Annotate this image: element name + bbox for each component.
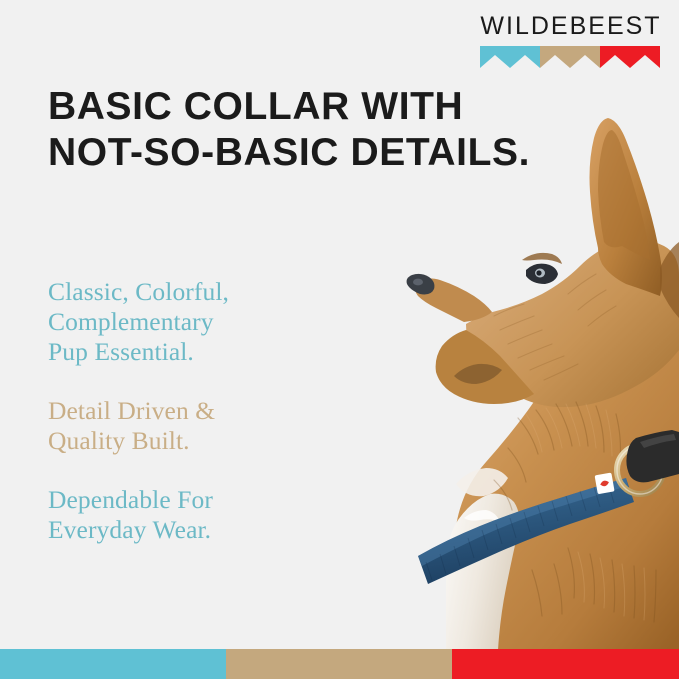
dog-brow (522, 253, 562, 264)
bottom-bar-red-segment (452, 649, 679, 679)
bottom-color-bar (0, 649, 679, 679)
brand-wordmark: WILDEBEEST (475, 14, 667, 39)
dog-photo (268, 118, 679, 650)
bottom-bar-tan-segment (226, 649, 452, 679)
brand-logo: WILDEBEEST (475, 14, 665, 68)
logo-chevron-bar-icon (480, 46, 660, 68)
collar-tag (595, 473, 615, 495)
promo-banner: WILDEBEEST BASIC COLLAR WITH NOT-SO-BASI… (0, 0, 679, 679)
bottom-bar-teal-segment (0, 649, 226, 679)
dog-illustration (268, 118, 679, 650)
